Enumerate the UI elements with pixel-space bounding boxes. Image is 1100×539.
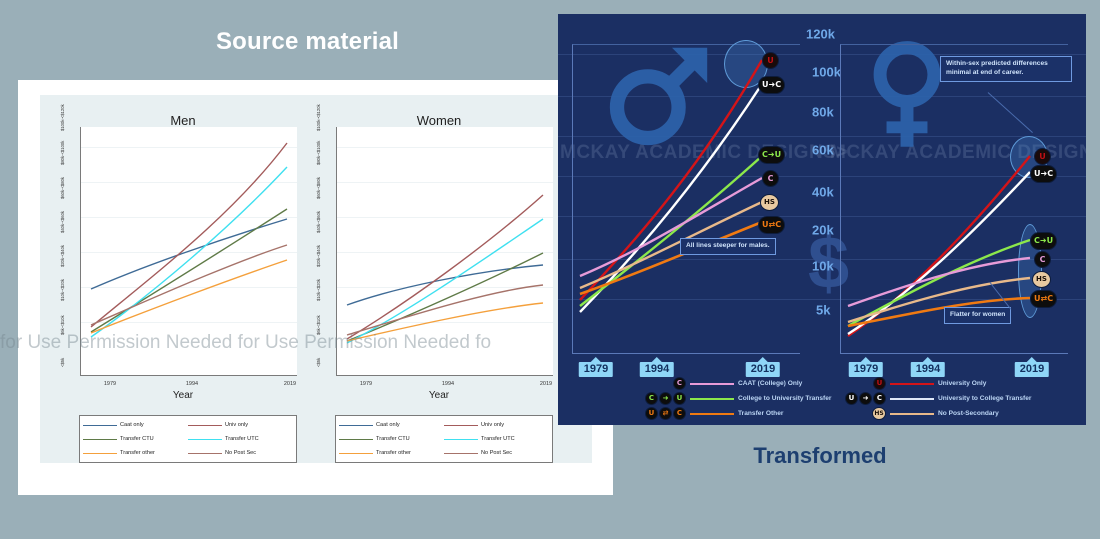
legend-badge-university-to-college: U ➜ C [844,392,886,405]
xtick-male-1994: 1994 [640,362,674,377]
panel-title-women: Women [308,113,570,128]
legend-badge-no-post-secondary: HS [844,407,886,420]
callout-steeper-males: All lines steeper for males. [680,238,776,255]
transformed-legend: C CAAT (College) Only C ➜ U College to U… [558,376,1086,424]
ytick-20k: 20k [812,223,834,238]
legend-swatch-transfer-other [83,453,117,454]
endpoint-badge-univ-to-college-male: U➜C [758,76,785,94]
source-watermark: for Use Permission Needed for Use Permis… [0,332,620,362]
xtick-female-1994: 1994 [911,362,945,377]
ytick-80k: 80k [812,105,834,120]
legend-line-transfer-other [690,413,734,415]
source-material-heading: Source material [0,28,615,56]
legend-row-no-post-secondary: HS No Post-Secondary [844,406,1031,421]
legend-swatch-transfer-other [339,453,373,454]
legend-badge-transfer-other: U ⇄ C [644,407,686,420]
legend-row-college-to-university: C ➜ U College to University Transfer [644,391,831,406]
legend-line-college-to-university [690,398,734,400]
legend-swatch-univ-only [188,425,222,426]
source-xaxis-title-men: Year [52,390,314,401]
source-xaxis-title-women: Year [308,390,570,401]
endpoint-badge-university-only-female: U [1034,148,1051,165]
endpoint-badge-no-post-secondary-male: HS [760,194,779,211]
legend-swatch-caat-only [83,425,117,426]
legend-row-transfer-other: U ⇄ C Transfer Other [644,406,831,421]
legend-badge-university-only: U [844,377,886,390]
endpoint-badge-university-only-male: U [762,52,779,69]
endpoint-badge-no-post-secondary-female: HS [1032,271,1051,288]
legend-swatch-no-post-sec [444,453,478,454]
legend-line-university-to-college [890,398,934,400]
endpoint-badge-transfer-other-female: U⇄C [1030,290,1057,308]
legend-badge-college-to-university: C ➜ U [644,392,686,405]
callout-within-sex: Within-sex predicted differences minimal… [940,56,1072,82]
endpoint-badge-college-to-univ-male: C➜U [758,146,785,164]
ytick-5k: 5k [816,303,830,318]
legend-badge-caat-only: C [644,377,686,390]
legend-swatch-no-post-sec [188,453,222,454]
source-legend-women: Caat only Univ only Transfer CTU Transfe… [335,415,553,463]
legend-swatch-caat-only [339,425,373,426]
transformed-infographic: MCKAY ACADEMIC DESIGNS> MCKAY ACADEMIC D… [558,14,1086,425]
legend-swatch-transfer-utc [444,439,478,440]
legend-swatch-transfer-utc [188,439,222,440]
ytick-60k: 60k [812,143,834,158]
legend-row-caat-only: C CAAT (College) Only [644,376,831,391]
legend-swatch-transfer-ctu [339,439,373,440]
callout-flatter-women: Flatter for women [944,307,1011,324]
legend-swatch-univ-only [444,425,478,426]
xtick-male-1979: 1979 [579,362,613,377]
source-material-card: Men <$5k $6k-<$10k $10k-<$20k $20k-<$40k… [18,80,613,495]
xtick-female-1979: 1979 [849,362,883,377]
endpoint-badge-caat-only-male: C [762,170,779,187]
legend-line-caat-only [690,383,734,385]
transformed-chart-male: U U➜C C➜U C HS U⇄C [572,44,800,354]
transformed-heading: Transformed [650,443,990,469]
source-panel-women: Women <$5k $6k-<$10k $10k-<$20k $20k-<$4… [308,95,570,463]
source-chart-canvas: Men <$5k $6k-<$10k $10k-<$20k $20k-<$40k… [40,95,592,463]
legend-line-no-post-secondary [890,413,934,415]
xtick-male-2019: 2019 [746,362,780,377]
source-panel-men: Men <$5k $6k-<$10k $10k-<$20k $20k-<$40k… [52,95,314,463]
endpoint-badge-transfer-other-male: U⇄C [758,216,785,234]
ytick-10k: 10k [812,259,834,274]
ytick-120k: 120k [806,27,835,42]
ytick-100k: 100k [812,65,841,80]
endpoint-badge-univ-to-college-female: U➜C [1030,165,1057,183]
legend-line-university-only [890,383,934,385]
source-legend-men: Caat only Univ only Transfer CTU Transfe… [79,415,297,463]
legend-swatch-transfer-ctu [83,439,117,440]
endpoint-badge-caat-only-female: C [1034,251,1051,268]
xtick-female-2019: 2019 [1015,362,1049,377]
endpoint-badge-college-to-univ-female: C➜U [1030,232,1057,250]
ytick-40k: 40k [812,185,834,200]
legend-row-university-to-college: U ➜ C University to College Transfer [844,391,1031,406]
legend-row-university-only: U University Only [844,376,1031,391]
panel-title-men: Men [52,113,314,128]
